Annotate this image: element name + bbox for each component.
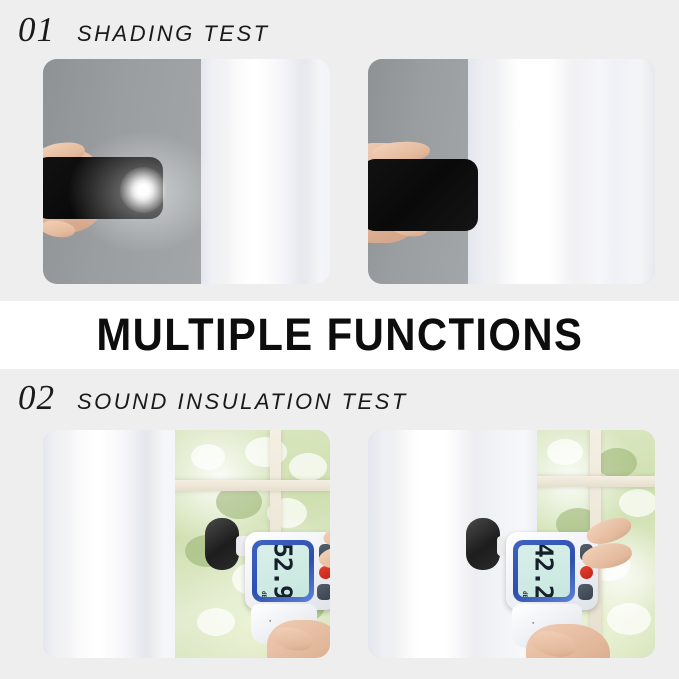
meter-button-bottom[interactable]	[317, 584, 330, 600]
meter-body: 42.2 dB	[506, 532, 598, 610]
lcd-bezel: 42.2 dB	[513, 540, 575, 602]
meter-reading: 52.9	[269, 545, 298, 597]
curtain-folds	[201, 59, 330, 284]
section-number-01: 01	[18, 10, 55, 50]
lcd-screen: 42.2 dB	[518, 545, 570, 597]
meter-body: 52.9 dB	[245, 532, 330, 610]
foliage-leaf	[597, 448, 637, 478]
microphone-windscreen	[466, 518, 500, 570]
section-header-01: 01 SHADING TEST	[18, 10, 270, 50]
foliage-blossom	[191, 444, 225, 470]
lcd-screen: 52.9 dB	[257, 545, 309, 597]
scene-shading-blocked	[368, 59, 655, 284]
foliage-blossom	[547, 439, 583, 465]
banner-title: MULTIPLE FUNCTIONS	[96, 309, 583, 361]
section-label-01: SHADING TEST	[77, 21, 270, 47]
section-header-02: 02 SOUND INSULATION TEST	[18, 378, 408, 418]
panel-sound-before: 52.9 dB ●	[43, 430, 330, 658]
lcd-bezel: 52.9 dB	[252, 540, 314, 602]
meter-button-bottom[interactable]	[578, 584, 593, 600]
curtain-fabric	[468, 59, 655, 284]
scene-shading-on	[43, 59, 330, 284]
meter-unit: dB	[260, 591, 267, 597]
section-number-02: 02	[18, 378, 55, 418]
meter-brand-logo: ●	[532, 620, 535, 625]
foliage-blossom	[197, 608, 235, 636]
meter-reading: 42.2	[530, 545, 559, 597]
curtain-folds	[468, 59, 655, 284]
foliage-blossom	[619, 489, 655, 517]
panel-shading-light-blocked	[368, 59, 655, 284]
panel-shading-light-on	[43, 59, 330, 284]
window-mullion-horizontal	[534, 476, 655, 487]
curtain-folds	[43, 430, 175, 658]
phone	[368, 159, 478, 231]
curtain-fabric	[201, 59, 330, 284]
infographic-page: 01 SHADING TEST	[0, 0, 679, 679]
meter-unit: dB	[521, 591, 528, 597]
panel-sound-after: 42.2 dB ●	[368, 430, 655, 658]
flashlight-beam-icon	[120, 167, 166, 213]
microphone-windscreen	[205, 518, 239, 570]
banner-multiple-functions: MULTIPLE FUNCTIONS	[0, 301, 679, 369]
curtain-fabric	[43, 430, 175, 658]
foliage-blossom	[607, 603, 651, 635]
meter-brand-logo: ●	[269, 618, 272, 623]
scene-sound-before: 52.9 dB ●	[43, 430, 330, 658]
scene-sound-after: 42.2 dB ●	[368, 430, 655, 658]
section-label-02: SOUND INSULATION TEST	[77, 389, 408, 415]
window-mullion-horizontal	[172, 480, 330, 491]
foliage-blossom	[289, 453, 327, 481]
meter-power-button[interactable]	[580, 566, 593, 579]
